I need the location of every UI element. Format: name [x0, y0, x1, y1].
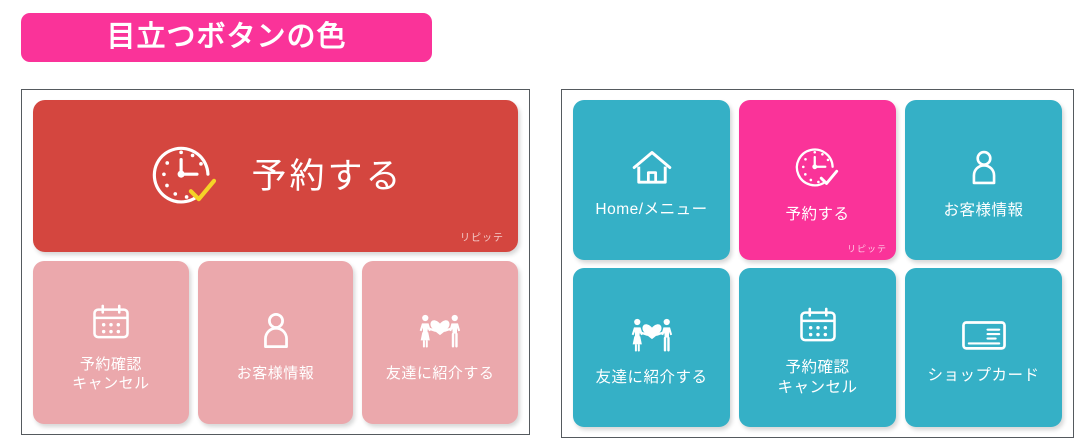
clock-check-icon — [792, 142, 844, 194]
tile-reserve-magenta[interactable]: 予約する リピッテ — [739, 100, 896, 260]
reserve-button-sublabel: リピッテ — [460, 234, 504, 244]
tile-refer-friend-left[interactable]: 友達に紹介する — [362, 261, 518, 424]
page-title-badge: 目立つボタンの色 — [21, 13, 432, 62]
calendar-icon — [796, 303, 840, 347]
home-icon — [630, 147, 674, 189]
tile-customer-info-right[interactable]: お客様情報 — [905, 100, 1062, 260]
shop-card-icon — [959, 315, 1009, 355]
reserve-button-red[interactable]: 予約する リピッテ — [33, 100, 518, 252]
tile-label: ショップカード — [927, 366, 1039, 385]
tile-reserve-confirm-cancel-right[interactable]: 予約確認 キャンセル — [739, 268, 896, 428]
page-title: 目立つボタンの色 — [106, 23, 346, 52]
tile-label: 友達に紹介する — [386, 365, 495, 384]
right-grid-row-1: Home/メニュー — [573, 100, 1062, 260]
tile-shop-card[interactable]: ショップカード — [905, 268, 1062, 428]
tile-reserve-confirm-cancel-left[interactable]: 予約確認 キャンセル — [33, 261, 189, 424]
tile-label: Home/メニュー — [595, 200, 707, 219]
right-panel: Home/メニュー — [561, 89, 1074, 438]
tile-sublabel: リピッテ — [847, 245, 887, 254]
tile-label: 予約確認 キャンセル — [777, 358, 857, 397]
left-secondary-row: 予約確認 キャンセル お客様情報 — [33, 261, 518, 424]
calendar-icon — [89, 300, 133, 344]
clock-check-icon — [147, 137, 225, 215]
tile-refer-friend-right[interactable]: 友達に紹介する — [573, 268, 730, 428]
tile-label: 友達に紹介する — [595, 368, 707, 387]
left-panel: 予約する リピッテ 予約確認 キャンセル — [21, 89, 530, 435]
tile-label: お客様情報 — [943, 201, 1023, 220]
friends-heart-icon — [414, 309, 466, 353]
right-panel-content: Home/メニュー — [562, 90, 1073, 437]
person-icon — [963, 146, 1005, 190]
tile-label: お客様情報 — [237, 365, 315, 384]
tile-home-menu[interactable]: Home/メニュー — [573, 100, 730, 260]
tile-label: 予約確認 キャンセル — [72, 356, 150, 394]
left-panel-content: 予約する リピッテ 予約確認 キャンセル — [22, 90, 529, 434]
friends-heart-icon — [626, 313, 678, 357]
person-icon — [254, 309, 298, 353]
tile-customer-info-left[interactable]: お客様情報 — [198, 261, 354, 424]
right-grid-row-2: 友達に紹介する 予約確認 キャンセル — [573, 268, 1062, 428]
tile-label: 予約する — [785, 205, 849, 224]
reserve-button-label: 予約する — [251, 159, 403, 194]
